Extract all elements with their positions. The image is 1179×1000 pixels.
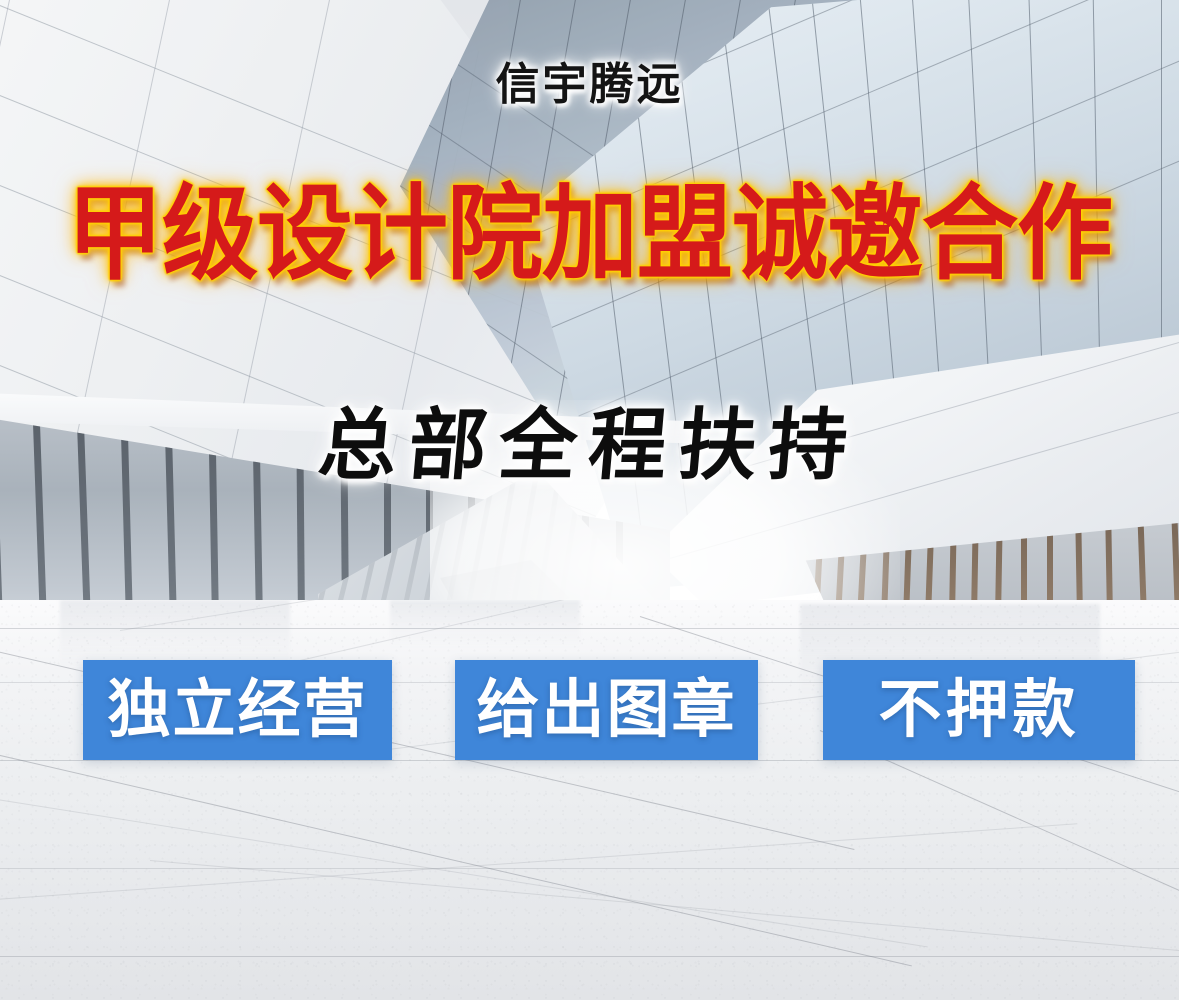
- subheadline-title: 总部全程扶持: [0, 383, 1179, 495]
- plaza-reflection: [390, 600, 580, 648]
- feature-badge-provide-seal[interactable]: 给出图章: [455, 660, 758, 760]
- poster-canvas: 信宇腾远 甲级设计院加盟诚邀合作 总部全程扶持 独立经营 给出图章 不押款: [0, 0, 1179, 1000]
- feature-badge-independent-operation[interactable]: 独立经营: [83, 660, 392, 760]
- feature-badge-row: 独立经营 给出图章 不押款: [0, 660, 1179, 760]
- feature-badge-label: 不押款: [879, 679, 1080, 742]
- brand-title: 信宇腾远: [0, 48, 1179, 112]
- feature-badge-label: 独立经营: [108, 679, 368, 742]
- feature-badge-label: 给出图章: [477, 679, 737, 742]
- feature-badge-no-deposit[interactable]: 不押款: [823, 660, 1135, 760]
- headline-title: 甲级设计院加盟诚邀合作: [0, 182, 1179, 288]
